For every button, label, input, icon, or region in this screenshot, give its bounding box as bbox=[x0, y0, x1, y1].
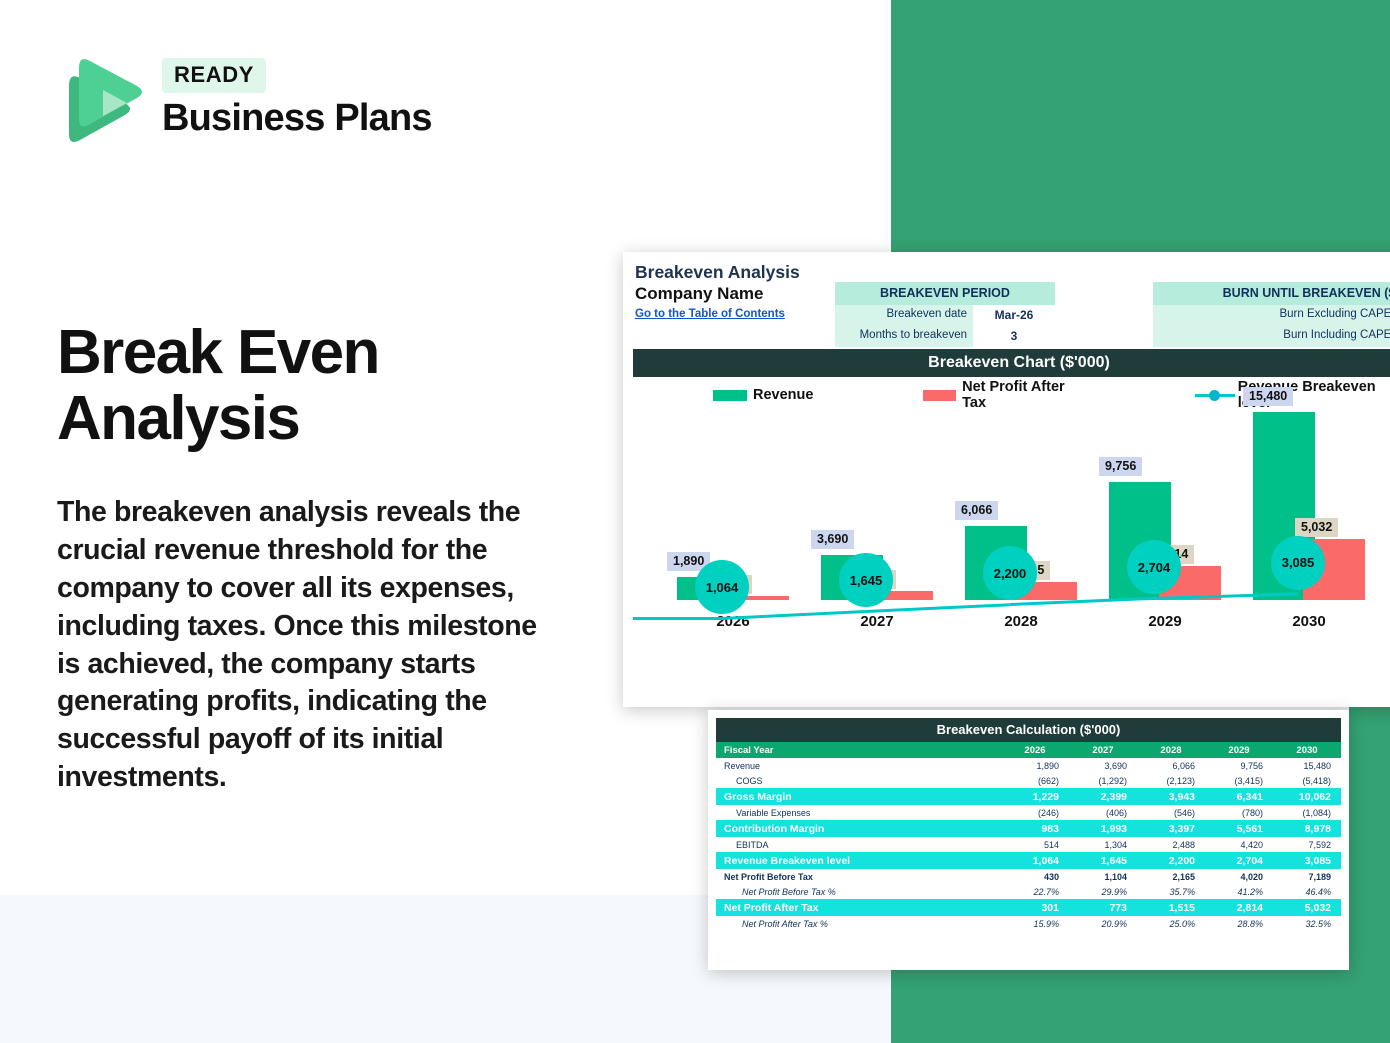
axis-tick-2027: 2027 bbox=[805, 613, 949, 630]
background-block-top-right bbox=[891, 0, 1390, 257]
table-row: Contribution Margin9831,9933,3975,5618,9… bbox=[716, 820, 1341, 837]
cell-value: 15,480 bbox=[1273, 758, 1341, 773]
cell-value: 7,592 bbox=[1273, 837, 1341, 852]
column-header-2030: 2030 bbox=[1273, 742, 1341, 758]
row-label: Net Profit After Tax % bbox=[716, 916, 1001, 931]
column-header-2027: 2027 bbox=[1069, 742, 1137, 758]
months-to-breakeven-value[interactable]: 3 bbox=[973, 326, 1055, 347]
cell-value: (2,123) bbox=[1137, 773, 1205, 788]
cell-value: (1,084) bbox=[1273, 805, 1341, 820]
breakeven-bubble-2027[interactable]: 1,645 bbox=[839, 553, 893, 607]
cell-value: 3,943 bbox=[1137, 788, 1205, 805]
chart-group-2026: 1,8903011,0642026 bbox=[661, 412, 805, 630]
breakeven-bubble-2028[interactable]: 2,200 bbox=[983, 546, 1037, 600]
row-label: COGS bbox=[716, 773, 1001, 788]
cell-value: 15.9% bbox=[1001, 916, 1069, 931]
row-label: Variable Expenses bbox=[716, 805, 1001, 820]
burn-including-capex-label: Burn Including CAPEX bbox=[1153, 326, 1390, 347]
legend-item-revenue: Revenue bbox=[713, 387, 813, 403]
chart-group-2028: 6,0661,5152,2002028 bbox=[949, 412, 1093, 630]
cell-value: 430 bbox=[1001, 869, 1069, 884]
label-revenue-2028: 6,066 bbox=[955, 501, 998, 520]
cell-value: (246) bbox=[1001, 805, 1069, 820]
breakeven-date-row: Breakeven date Mar-26 bbox=[835, 305, 1055, 326]
burn-until-breakeven-card: BURN UNTIL BREAKEVEN ($'000) Burn Exclud… bbox=[1153, 282, 1390, 347]
cell-value: 6,066 bbox=[1137, 758, 1205, 773]
cell-value: 514 bbox=[1001, 837, 1069, 852]
breakeven-date-label: Breakeven date bbox=[835, 305, 973, 326]
page-description: The breakeven analysis reveals the cruci… bbox=[57, 494, 557, 797]
burn-excluding-capex-row: Burn Excluding CAPEX (11.0) bbox=[1153, 305, 1390, 326]
brand-name: Business Plans bbox=[162, 99, 432, 139]
row-label: Net Profit Before Tax bbox=[716, 869, 1001, 884]
calculation-table-title: Breakeven Calculation ($'000) bbox=[716, 718, 1341, 742]
cell-value: (5,418) bbox=[1273, 773, 1341, 788]
chart-plot-area: 1,8903011,06420263,6907731,64520276,0661… bbox=[633, 412, 1390, 660]
row-label: EBITDA bbox=[716, 837, 1001, 852]
cell-value: (1,292) bbox=[1069, 773, 1137, 788]
table-header-row: Fiscal Year20262027202820292030 bbox=[716, 742, 1341, 758]
cell-value: 35.7% bbox=[1137, 884, 1205, 899]
row-label: Revenue Breakeven level bbox=[716, 852, 1001, 869]
cell-value: 1,304 bbox=[1069, 837, 1137, 852]
cell-value: 20.9% bbox=[1069, 916, 1137, 931]
column-header-2026: 2026 bbox=[1001, 742, 1069, 758]
table-row: Revenue1,8903,6906,0669,75615,480 bbox=[716, 758, 1341, 773]
column-header-2028: 2028 bbox=[1137, 742, 1205, 758]
table-of-contents-link[interactable]: Go to the Table of Contents bbox=[635, 308, 785, 320]
row-label: Revenue bbox=[716, 758, 1001, 773]
cell-value: 6,341 bbox=[1205, 788, 1273, 805]
line-marker-icon bbox=[1195, 389, 1233, 401]
cell-value: (662) bbox=[1001, 773, 1069, 788]
label-net-profit-2030: 5,032 bbox=[1295, 518, 1338, 537]
play-triangle-logo-icon bbox=[57, 58, 145, 150]
burn-excluding-capex-label: Burn Excluding CAPEX bbox=[1153, 305, 1390, 326]
table-row: COGS(662)(1,292)(2,123)(3,415)(5,418) bbox=[716, 773, 1341, 788]
cell-value: 1,645 bbox=[1069, 852, 1137, 869]
cell-value: 2,814 bbox=[1205, 899, 1273, 916]
row-label: Net Profit Before Tax % bbox=[716, 884, 1001, 899]
cell-value: 25.0% bbox=[1137, 916, 1205, 931]
breakeven-date-value[interactable]: Mar-26 bbox=[973, 305, 1055, 326]
cell-value: 773 bbox=[1069, 899, 1137, 916]
column-header-fiscal-year: Fiscal Year bbox=[716, 742, 1001, 758]
sheet-header: Breakeven Analysis Company Name Go to th… bbox=[623, 252, 1390, 344]
cell-value: 1,993 bbox=[1069, 820, 1137, 837]
chart-title: Breakeven Chart ($'000) bbox=[633, 349, 1390, 377]
breakeven-bubble-2026[interactable]: 1,064 bbox=[695, 560, 749, 614]
cell-value: 1,104 bbox=[1069, 869, 1137, 884]
cell-value: 10,062 bbox=[1273, 788, 1341, 805]
cell-value: 301 bbox=[1001, 899, 1069, 916]
legend-label-net-profit: Net Profit After Tax bbox=[962, 379, 1087, 411]
chart-group-2027: 3,6907731,6452027 bbox=[805, 412, 949, 630]
cell-value: 32.5% bbox=[1273, 916, 1341, 931]
burn-until-breakeven-title: BURN UNTIL BREAKEVEN ($'000) bbox=[1153, 282, 1390, 305]
cell-value: 3,397 bbox=[1137, 820, 1205, 837]
cell-value: 22.7% bbox=[1001, 884, 1069, 899]
table-row: Net Profit After Tax3017731,5152,8145,03… bbox=[716, 899, 1341, 916]
legend-item-net-profit: Net Profit After Tax bbox=[923, 379, 1087, 411]
label-revenue-2029: 9,756 bbox=[1099, 457, 1142, 476]
axis-tick-2030: 2030 bbox=[1237, 613, 1381, 630]
ready-badge: READY bbox=[162, 58, 266, 93]
cell-value: 5,561 bbox=[1205, 820, 1273, 837]
row-label: Net Profit After Tax bbox=[716, 899, 1001, 916]
cell-value: 2,704 bbox=[1205, 852, 1273, 869]
breakeven-chart-panel: Breakeven Analysis Company Name Go to th… bbox=[623, 252, 1390, 707]
breakeven-bubble-2030[interactable]: 3,085 bbox=[1271, 536, 1325, 590]
cell-value: (3,415) bbox=[1205, 773, 1273, 788]
cell-value: 4,420 bbox=[1205, 837, 1273, 852]
cell-value: 2,200 bbox=[1137, 852, 1205, 869]
sheet-title: Breakeven Analysis bbox=[635, 262, 1390, 283]
burn-including-capex-row: Burn Including CAPEX (48.5) bbox=[1153, 326, 1390, 347]
cell-value: 2,165 bbox=[1137, 869, 1205, 884]
cell-value: 1,229 bbox=[1001, 788, 1069, 805]
months-to-breakeven-row: Months to breakeven 3 bbox=[835, 326, 1055, 347]
table-row: Gross Margin1,2292,3993,9436,34110,062 bbox=[716, 788, 1341, 805]
label-revenue-2030: 15,480 bbox=[1243, 387, 1293, 406]
cell-value: 46.4% bbox=[1273, 884, 1341, 899]
row-label: Contribution Margin bbox=[716, 820, 1001, 837]
cell-value: 983 bbox=[1001, 820, 1069, 837]
breakeven-calculation-panel: Breakeven Calculation ($'000) Fiscal Yea… bbox=[708, 710, 1349, 970]
cell-value: 5,032 bbox=[1273, 899, 1341, 916]
cell-value: 28.8% bbox=[1205, 916, 1273, 931]
brand-logo: READY Business Plans bbox=[57, 58, 437, 158]
cell-value: 3,085 bbox=[1273, 852, 1341, 869]
cell-value: 1,515 bbox=[1137, 899, 1205, 916]
axis-tick-2029: 2029 bbox=[1093, 613, 1237, 630]
cell-value: 1,890 bbox=[1001, 758, 1069, 773]
table-row: Net Profit Before Tax %22.7%29.9%35.7%41… bbox=[716, 884, 1341, 899]
label-revenue-2027: 3,690 bbox=[811, 530, 854, 549]
cell-value: 7,189 bbox=[1273, 869, 1341, 884]
page-title: Break EvenAnalysis bbox=[57, 320, 557, 451]
breakeven-line-lead bbox=[633, 617, 722, 620]
table-row: Net Profit Before Tax4301,1042,1654,0207… bbox=[716, 869, 1341, 884]
cell-value: 41.2% bbox=[1205, 884, 1273, 899]
cell-value: 2,399 bbox=[1069, 788, 1137, 805]
cell-value: 4,020 bbox=[1205, 869, 1273, 884]
net-profit-swatch-icon bbox=[923, 390, 956, 401]
breakeven-bubble-2029[interactable]: 2,704 bbox=[1127, 540, 1181, 594]
months-to-breakeven-label: Months to breakeven bbox=[835, 326, 973, 347]
axis-tick-2028: 2028 bbox=[949, 613, 1093, 630]
revenue-swatch-icon bbox=[713, 390, 747, 401]
breakeven-period-title: BREAKEVEN PERIOD bbox=[835, 282, 1055, 305]
table-row: EBITDA5141,3042,4884,4207,592 bbox=[716, 837, 1341, 852]
cell-value: (780) bbox=[1205, 805, 1273, 820]
row-label: Gross Margin bbox=[716, 788, 1001, 805]
cell-value: 8,978 bbox=[1273, 820, 1341, 837]
cell-value: 3,690 bbox=[1069, 758, 1137, 773]
cell-value: 2,488 bbox=[1137, 837, 1205, 852]
breakeven-calculation-table: Fiscal Year20262027202820292030Revenue1,… bbox=[716, 742, 1341, 931]
brand-wordmark: READY Business Plans bbox=[162, 58, 432, 139]
cell-value: 29.9% bbox=[1069, 884, 1137, 899]
column-header-2029: 2029 bbox=[1205, 742, 1273, 758]
cell-value: (546) bbox=[1137, 805, 1205, 820]
cell-value: (406) bbox=[1069, 805, 1137, 820]
table-row: Net Profit After Tax %15.9%20.9%25.0%28.… bbox=[716, 916, 1341, 931]
cell-value: 9,756 bbox=[1205, 758, 1273, 773]
table-row: Revenue Breakeven level1,0641,6452,2002,… bbox=[716, 852, 1341, 869]
cell-value: 1,064 bbox=[1001, 852, 1069, 869]
chart-group-2030: 15,4805,0323,0852030 bbox=[1237, 412, 1381, 630]
legend-label-revenue: Revenue bbox=[753, 387, 813, 403]
table-row: Variable Expenses(246)(406)(546)(780)(1,… bbox=[716, 805, 1341, 820]
slide-root: READY Business Plans Break EvenAnalysis … bbox=[0, 0, 1390, 1043]
breakeven-period-card: BREAKEVEN PERIOD Breakeven date Mar-26 M… bbox=[835, 282, 1055, 347]
